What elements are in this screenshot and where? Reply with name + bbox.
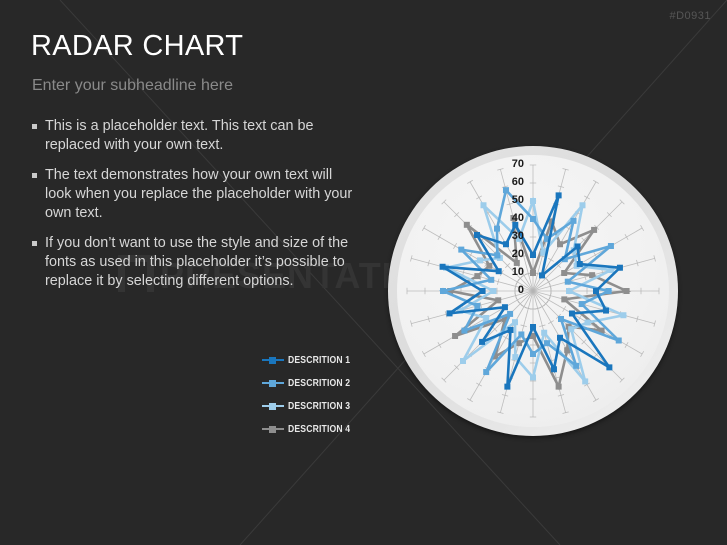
chart-legend: DESCRITION 1 DESCRITION 2 DESCRITION 3 D… — [262, 348, 364, 440]
legend-label: DESCRITION 4 — [288, 423, 350, 435]
bullet-square-icon — [32, 173, 37, 178]
document-id: #D0931 — [669, 10, 711, 22]
legend-item-2[interactable]: DESCRITION 2 — [262, 371, 364, 394]
legend-dot — [269, 357, 276, 364]
legend-item-4[interactable]: DESCRITION 4 — [262, 417, 364, 440]
radial-tick-label: 20 — [502, 248, 524, 260]
page-subtitle[interactable]: Enter your subheadline here — [32, 77, 233, 95]
radial-tick-label: 30 — [502, 230, 524, 242]
legend-label: DESCRITION 2 — [288, 377, 350, 389]
legend-marker-icon — [262, 401, 284, 411]
list-item[interactable]: If you don’t want to use the style and s… — [32, 234, 362, 291]
legend-marker-icon — [262, 424, 284, 434]
radial-tick-label: 10 — [502, 266, 524, 278]
bullet-square-icon — [32, 241, 37, 246]
radial-tick-label: 60 — [502, 176, 524, 188]
page-title: RADAR CHART — [31, 30, 243, 63]
legend-dot — [269, 426, 276, 433]
list-item-text: If you don’t want to use the style and s… — [45, 234, 362, 291]
list-item-text: This is a placeholder text. This text ca… — [45, 117, 362, 155]
bullet-square-icon — [32, 124, 37, 129]
legend-item-3[interactable]: DESCRITION 3 — [262, 394, 364, 417]
legend-label: DESCRITION 3 — [288, 400, 350, 412]
legend-item-1[interactable]: DESCRITION 1 — [262, 348, 364, 371]
bullet-list: This is a placeholder text. This text ca… — [32, 117, 362, 302]
radial-tick-label: 40 — [502, 212, 524, 224]
legend-dot — [269, 380, 276, 387]
legend-marker-icon — [262, 378, 284, 388]
list-item[interactable]: The text demonstrates how your own text … — [32, 166, 362, 223]
slide-canvas: PRESENTATIONLOAD #D0931 RADAR CHART Ente… — [0, 0, 727, 545]
legend-label: DESCRITION 1 — [288, 354, 350, 366]
radial-tick-label: 0 — [502, 284, 524, 296]
legend-dot — [269, 403, 276, 410]
list-item[interactable]: This is a placeholder text. This text ca… — [32, 117, 362, 155]
radar-chart[interactable]: 010203040506070 — [388, 146, 680, 438]
radial-tick-label: 70 — [502, 158, 524, 170]
list-item-text: The text demonstrates how your own text … — [45, 166, 362, 223]
radial-tick-label: 50 — [502, 194, 524, 206]
legend-marker-icon — [262, 355, 284, 365]
radial-axis-labels: 010203040506070 — [388, 146, 678, 436]
